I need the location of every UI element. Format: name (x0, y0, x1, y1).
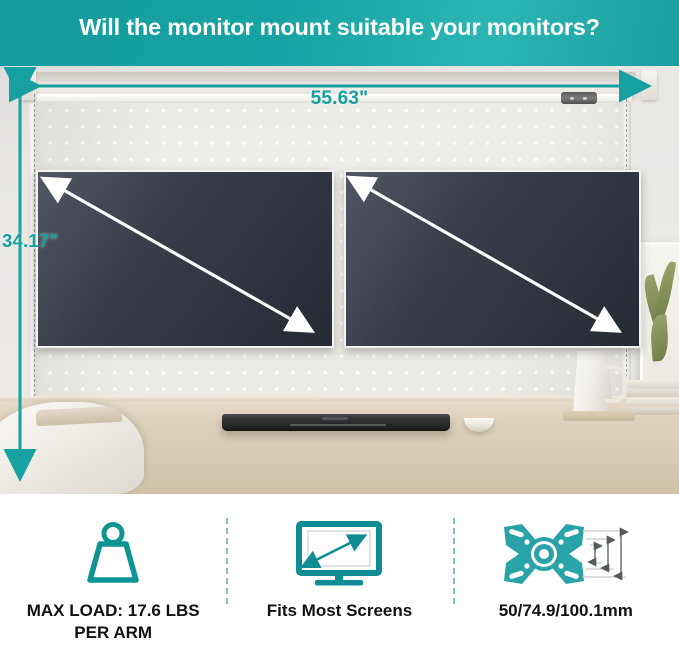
vesa-plate-icon (496, 516, 636, 592)
weight-icon (76, 516, 150, 592)
pitcher-handle (605, 365, 627, 403)
right-monitor-diagonal-arrow-icon (346, 172, 639, 346)
feature-fits-screens: Fits Most Screens (226, 494, 452, 654)
header-banner: Will the monitor mount suitable your mon… (0, 0, 679, 66)
mount-top-rail (24, 72, 636, 96)
monitor-screen-icon (287, 516, 391, 592)
product-scene-photo: 55.63" 34.17" (0, 66, 679, 494)
feature-vesa-pattern-label: 50/74.9/100.1mm (499, 600, 633, 622)
left-monitor-diagonal-arrow-icon (38, 172, 332, 346)
pitcher-tray (563, 411, 635, 421)
feature-fits-screens-label: Fits Most Screens (267, 600, 413, 622)
feature-max-load: MAX LOAD: 17.6 LBS PER ARM (0, 494, 226, 654)
framed-plant-print (640, 242, 679, 388)
plant-leaf-icon (649, 314, 669, 361)
cable-clip (561, 92, 597, 104)
left-monitor (36, 170, 334, 348)
page-title: Will the monitor mount suitable your mon… (0, 14, 679, 41)
feature-max-load-label: MAX LOAD: 17.6 LBS PER ARM (27, 600, 200, 645)
mount-rail-cap-right (641, 70, 657, 100)
right-monitor (344, 170, 641, 348)
feature-strip: MAX LOAD: 17.6 LBS PER ARM (0, 494, 679, 654)
closed-laptop (222, 414, 450, 431)
product-infographic: Will the monitor mount suitable your mon… (0, 0, 679, 654)
mount-rail-underside (28, 94, 632, 103)
stacked-books (626, 380, 679, 413)
feature-vesa-pattern: 50/74.9/100.1mm (453, 494, 679, 654)
